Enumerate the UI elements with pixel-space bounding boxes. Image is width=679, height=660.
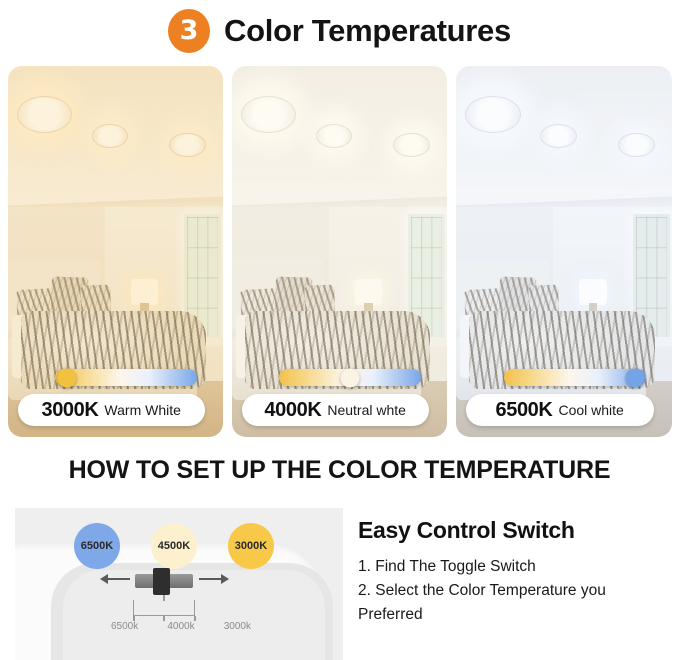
downlight-fixture [540, 124, 577, 148]
arrow-right-icon [199, 578, 222, 580]
chip-3000k: 3000K [228, 523, 274, 569]
temperature-label-4000k: 4000K Neutral whte [242, 394, 429, 426]
temperature-name: Cool white [558, 402, 623, 418]
slider-knob[interactable] [341, 368, 360, 387]
lamp-shade [131, 279, 159, 305]
switch-label-4000k: 4000k [167, 621, 194, 632]
setup-section: 6500K 4500K 3000K 6500k 4000k 3000k [0, 503, 679, 660]
downlight-fixture [92, 124, 129, 148]
lamp-shade [355, 279, 383, 305]
instructions-block: Easy Control Switch 1. Find The Toggle S… [358, 517, 670, 627]
slider-knob[interactable] [57, 368, 76, 387]
chip-label: 3000K [235, 540, 267, 552]
step-number-badge: 3 [168, 9, 210, 53]
downlight-fixture [393, 133, 430, 157]
chip-4500k: 4500K [151, 523, 197, 569]
slider-track[interactable] [55, 369, 197, 386]
switch-position-labels: 6500k 4000k 3000k [111, 621, 251, 632]
toggle-switch-lever[interactable] [153, 568, 170, 595]
panel-3000k[interactable]: 3000K Warm White [8, 66, 223, 437]
downlight-fixture [316, 124, 353, 148]
page-title: Color Temperatures [224, 13, 511, 49]
color-temperature-panels: 3000K Warm White [8, 66, 672, 437]
switch-label-3000k: 3000k [224, 621, 251, 632]
temperature-label-6500k: 6500K Cool white [466, 394, 654, 426]
chip-6500k: 6500K [74, 523, 120, 569]
slider-knob[interactable] [625, 368, 644, 387]
chip-label: 6500K [81, 540, 113, 552]
instruction-step-1: 1. Find The Toggle Switch [358, 555, 670, 579]
temperature-slider-4000k[interactable] [279, 369, 421, 386]
temperature-slider-3000k[interactable] [55, 369, 197, 386]
page-header: 3 Color Temperatures [0, 0, 679, 62]
downlight-fixture [618, 133, 655, 157]
step-number-text: 3 [180, 17, 199, 44]
arrow-left-icon [107, 578, 130, 580]
product-infographic: 3 Color Temperatures [0, 0, 679, 660]
downlight-fixture [17, 96, 73, 133]
downlight-fixture [465, 96, 521, 133]
temperature-value: 4000K [264, 399, 321, 422]
instructions-title: Easy Control Switch [358, 517, 670, 544]
temperature-value: 6500K [496, 399, 553, 422]
temperature-value: 3000K [41, 399, 98, 422]
chip-label: 4500K [158, 540, 190, 552]
temperature-slider-6500k[interactable] [504, 369, 647, 386]
downlight-fixture [241, 96, 297, 133]
toggle-switch-diagram: 6500K 4500K 3000K 6500k 4000k 3000k [15, 508, 343, 660]
temperature-name: Warm White [104, 402, 180, 418]
downlight-fixture [169, 133, 206, 157]
panel-6500k[interactable]: 6500K Cool white [456, 66, 672, 437]
switch-label-6500k: 6500k [111, 621, 138, 632]
temperature-name: Neutral whte [327, 402, 406, 418]
panel-4000k[interactable]: 4000K Neutral whte [232, 66, 447, 437]
temperature-label-3000k: 3000K Warm White [18, 394, 205, 426]
position-bracket [133, 600, 195, 616]
lamp-shade [579, 279, 607, 305]
instruction-step-2: 2. Select the Color Temperature you Pref… [358, 579, 670, 627]
section-title: HOW TO SET UP THE COLOR TEMPERATURE [0, 456, 679, 485]
